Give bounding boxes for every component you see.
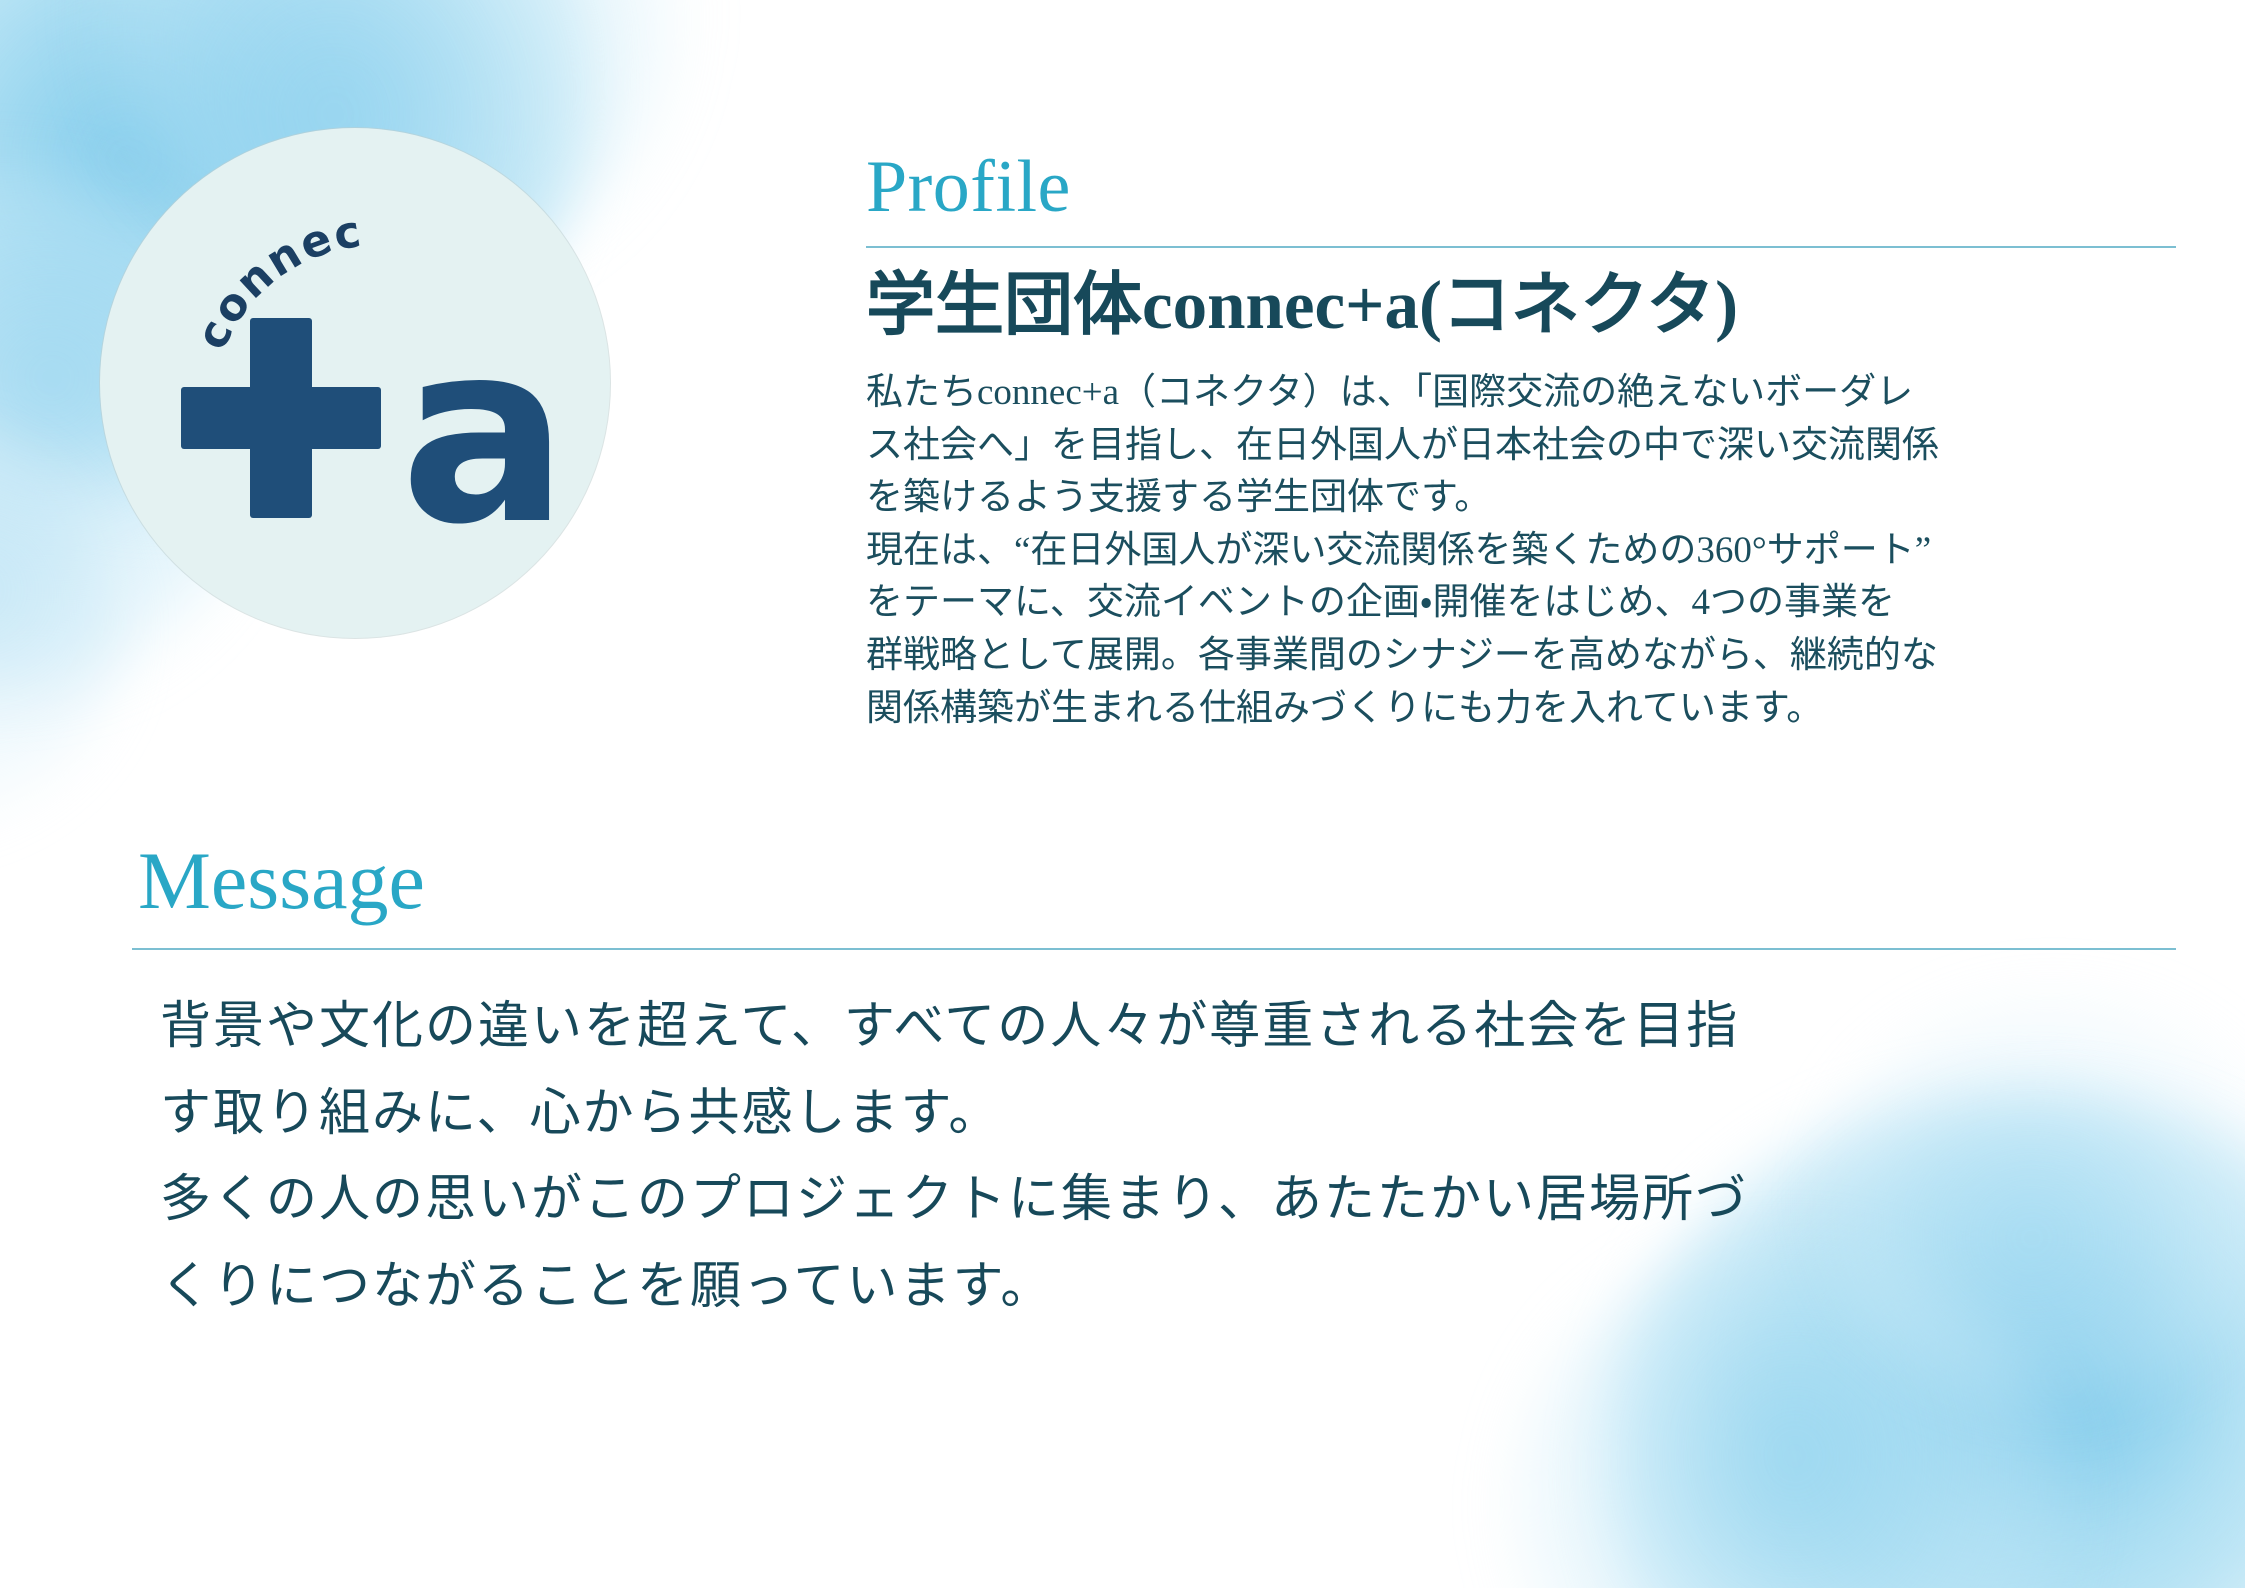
message-heading: Message [138, 840, 2176, 922]
profile-body-line: をテーマに、交流イベントの企画・開催をはじめ、4つの事業を [866, 577, 2176, 630]
logo-letter-a: a [400, 288, 569, 579]
slide-canvas: connec a Profile 学生団体connec+a(コネクタ) 私たちc… [0, 0, 2245, 1588]
profile-body-line: 関係構築が生まれる仕組みづくりにも力を入れています。 [866, 683, 2176, 736]
logo-plus-icon [181, 318, 381, 518]
profile-body-text: 私たちconnec+a（コネクタ）は、「国際交流の絶えないボーダレ ス社会へ」を… [866, 367, 2176, 735]
profile-body-line: 現在は、“在日外国人が深い交流関係を築くための360°サポート” [866, 525, 2176, 578]
organization-title: 学生団体connec+a(コネクタ) [866, 266, 2176, 345]
message-divider [132, 948, 2176, 950]
profile-divider [866, 246, 2176, 248]
profile-body-line: 私たちconnec+a（コネクタ）は、「国際交流の絶えないボーダレ [866, 367, 2176, 420]
profile-section: Profile 学生団体connec+a(コネクタ) 私たちconnec+a（コ… [866, 150, 2176, 735]
message-body-line: 背景や文化の違いを超えて、すべての人々が尊重される社会を目指 [160, 984, 2176, 1071]
logo-circle: connec a [100, 128, 610, 638]
profile-heading: Profile [866, 150, 2176, 224]
logo-mark: connec a [100, 128, 610, 638]
message-body-line: くりにつながることを願っています。 [160, 1244, 2176, 1331]
profile-body-line: ス社会へ」を目指し、在日外国人が日本社会の中で深い交流関係 [866, 420, 2176, 473]
profile-body-line: を築けるよう支援する学生団体です。 [866, 472, 2176, 525]
message-section: Message 背景や文化の違いを超えて、すべての人々が尊重される社会を目指 す… [132, 840, 2176, 1331]
profile-body-line: 群戦略として展開。各事業間のシナジーを高めながら、継続的な [866, 630, 2176, 683]
message-body-line: 多くの人の思いがこのプロジェクトに集まり、あたたかい居場所づ [160, 1157, 2176, 1244]
message-body-text: 背景や文化の違いを超えて、すべての人々が尊重される社会を目指 す取り組みに、心か… [160, 984, 2176, 1331]
message-body-line: す取り組みに、心から共感します。 [160, 1071, 2176, 1158]
